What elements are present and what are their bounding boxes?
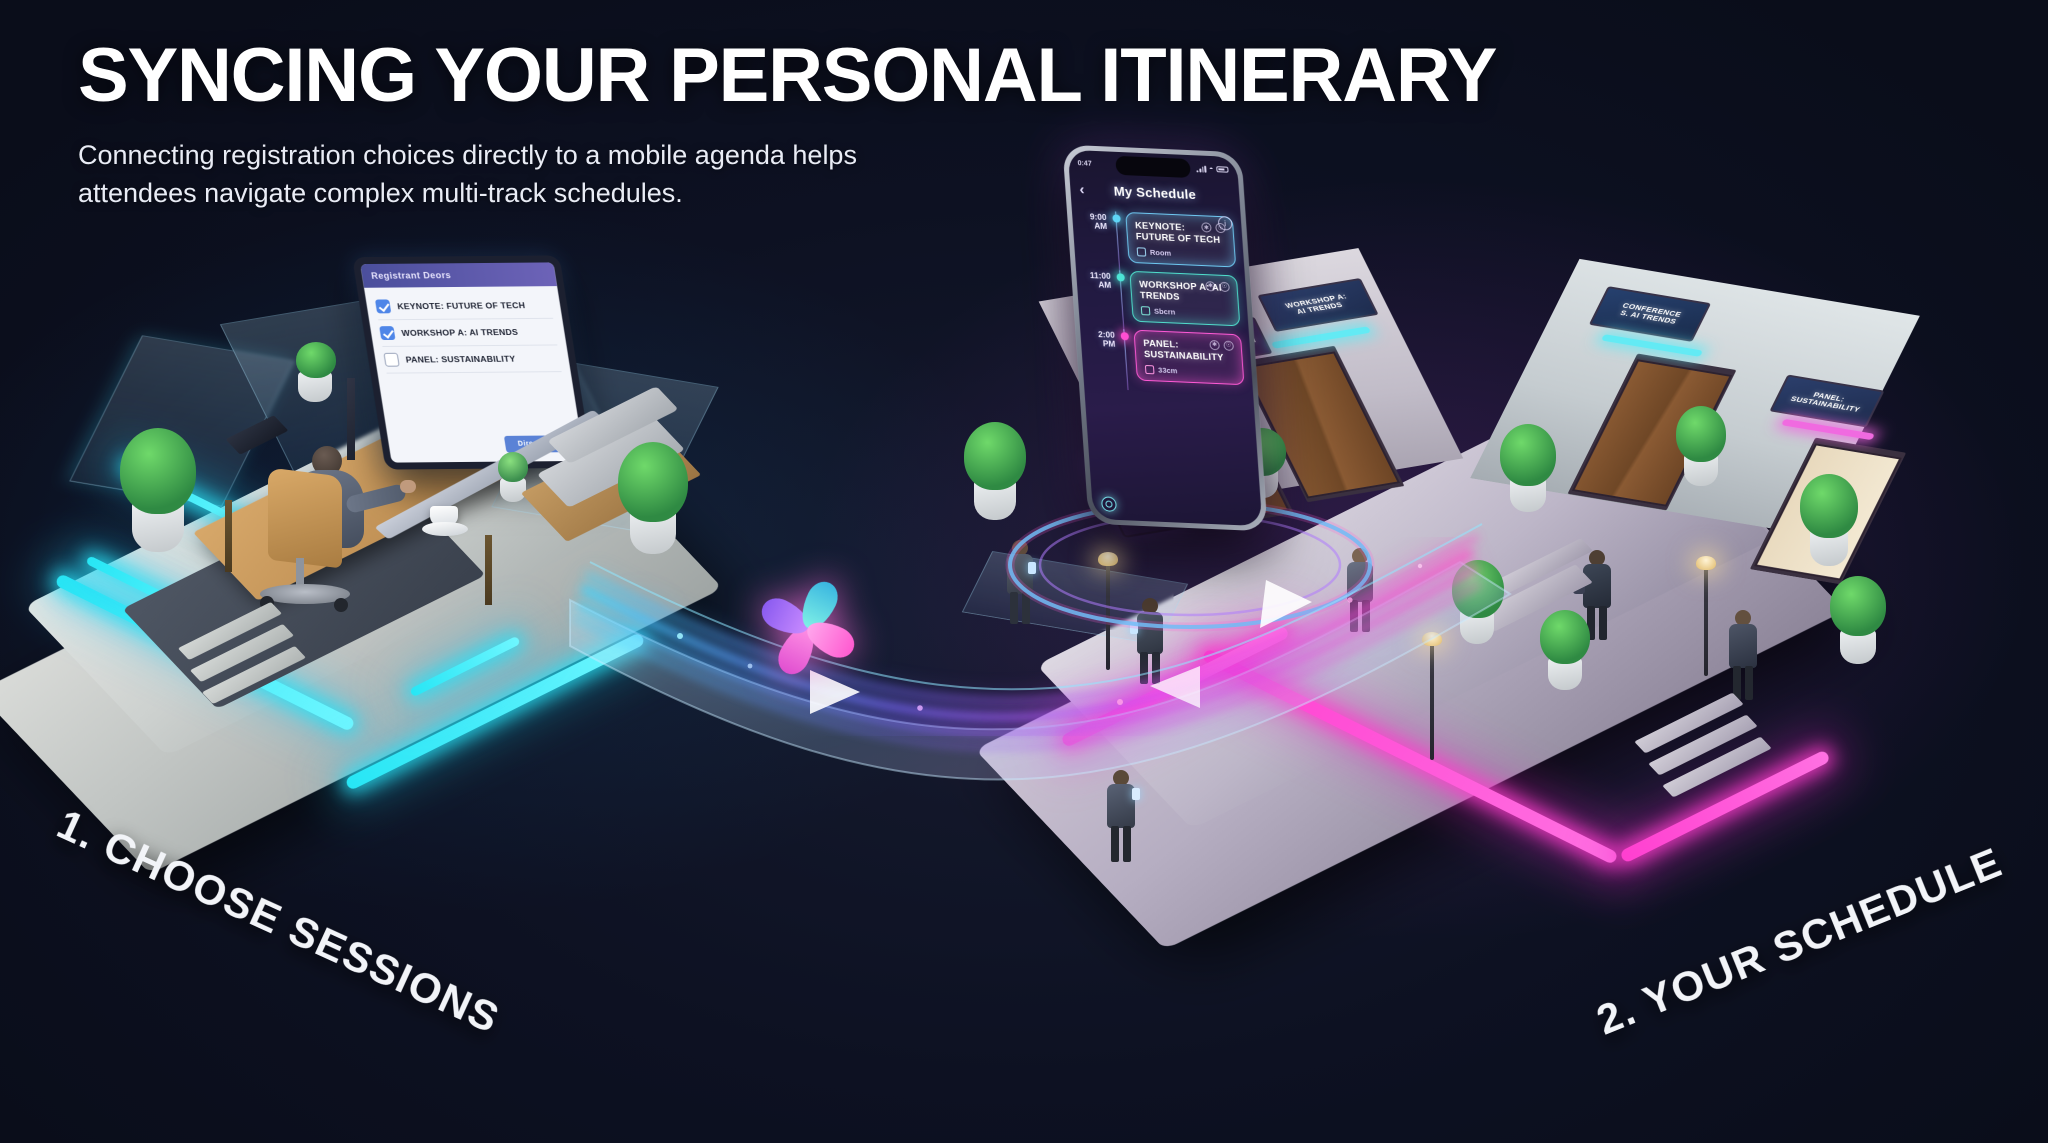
calendar-icon [1137, 247, 1147, 256]
attendee-leg [1599, 606, 1607, 640]
ticket-fairy-flower-node-icon [760, 580, 856, 676]
bell-icon[interactable]: ☉ [1223, 340, 1234, 350]
agenda-card-room: Room [1150, 248, 1172, 258]
desk-leg-right [485, 535, 492, 605]
lamp-post [1704, 566, 1708, 676]
data-particle [748, 664, 753, 669]
agenda-time: 11:00AM [1084, 269, 1114, 321]
session-option-row[interactable]: KEYNOTE: FUTURE OF TECH [374, 292, 553, 320]
chair-wheel [334, 598, 348, 612]
data-flow-paths [560, 470, 1560, 870]
data-particle [677, 633, 683, 639]
bell-icon[interactable]: ☉ [1219, 282, 1230, 292]
card-action-icons[interactable]: ✱ ☉ [1205, 281, 1230, 292]
chair-back [268, 467, 342, 568]
session-option-row[interactable]: WORKSHOP A: AI TRENDS [378, 319, 557, 347]
person-hand [400, 480, 416, 493]
agenda-row[interactable]: 2:00PM ✱ ☉ PANEL: SUSTAINABILITY [1088, 328, 1244, 385]
timeline-dot [1120, 332, 1129, 340]
share-icon[interactable]: ✱ [1205, 281, 1216, 291]
checkbox-workshop[interactable] [379, 326, 395, 340]
floor-plant-leaves-left [120, 428, 196, 514]
timeline-dot [1112, 214, 1121, 222]
agenda-card-room: Sbcrn [1154, 307, 1176, 317]
timeline-rail [1119, 329, 1132, 380]
plant-leaves [1676, 406, 1726, 462]
lamp-head [1696, 556, 1716, 570]
agenda-time: 2:00PM [1088, 328, 1118, 380]
data-particle [1117, 699, 1123, 705]
session-option-label: KEYNOTE: FUTURE OF TECH [396, 300, 525, 311]
data-particle [917, 705, 923, 711]
agenda-card-meta: 33cm [1145, 365, 1235, 378]
checkbox-keynote[interactable] [375, 299, 391, 313]
agenda-list: 9:00AM ✱ ☉ KEYNOTE: FUTURE OF TECH [1072, 208, 1261, 501]
session-option-row[interactable]: PANEL: SUSTAINABILITY [382, 345, 561, 373]
plant-leaves [1800, 474, 1858, 538]
calendar-icon [1141, 306, 1151, 315]
data-sync-bridge [560, 470, 1560, 870]
attendee-leg [1745, 666, 1753, 700]
card-action-icons[interactable]: ✱ ☉ [1209, 340, 1234, 351]
checkbox-panel[interactable] [383, 353, 399, 367]
timeline-rail [1111, 211, 1124, 262]
session-option-label: PANEL: SUSTAINABILITY [405, 354, 516, 365]
share-icon[interactable]: ✱ [1201, 222, 1212, 232]
session-options-list: KEYNOTE: FUTURE OF TECH WORKSHOP A: AI T… [364, 286, 580, 431]
desk-plant-leaves [296, 342, 336, 378]
calendar-icon [1145, 365, 1155, 374]
page-title: SYNCING YOUR PERSONAL ITINERARY [78, 38, 1578, 114]
attendee-body [1583, 564, 1611, 608]
office-chair [256, 472, 366, 622]
timeline-dot [1116, 273, 1125, 281]
page-subtitle: Connecting registration choices directly… [78, 136, 908, 213]
agenda-card-room: 33cm [1158, 365, 1178, 375]
coffee-saucer [422, 522, 468, 536]
agenda-card-meta: Room [1137, 247, 1227, 260]
agenda-row[interactable]: 9:00AM ✱ ☉ KEYNOTE: FUTURE OF TECH [1080, 210, 1236, 267]
succulent-leaves [498, 452, 528, 482]
illustration-canvas: SYNCING YOUR PERSONAL ITINERARY Connecti… [0, 0, 2048, 1143]
agenda-time: 9:00AM [1080, 210, 1110, 262]
attendee-body [1729, 624, 1757, 668]
agenda-row[interactable]: 11:00AM ✱ ☉ WORKSHOP A: AI TRENDS [1084, 269, 1240, 326]
data-particle [1418, 564, 1422, 568]
session-option-label: WORKSHOP A: AI TRENDS [401, 327, 519, 338]
desk-leg-left [225, 500, 232, 572]
timeline-rail [1115, 270, 1128, 321]
registration-window-title: Registrant Deors [360, 262, 557, 287]
agenda-card-meta: Sbcrn [1141, 306, 1231, 319]
data-particle [1347, 597, 1352, 602]
header: SYNCING YOUR PERSONAL ITINERARY Connecti… [78, 38, 1578, 213]
attendee-figure [1722, 610, 1764, 702]
agenda-card-workshop[interactable]: ✱ ☉ WORKSHOP A: AI TRENDS Sbcrn [1129, 271, 1240, 327]
plant-leaves [1830, 576, 1886, 636]
agenda-card-panel[interactable]: ✱ ☉ PANEL: SUSTAINABILITY 33cm [1133, 330, 1244, 386]
share-icon[interactable]: ✱ [1209, 340, 1220, 350]
